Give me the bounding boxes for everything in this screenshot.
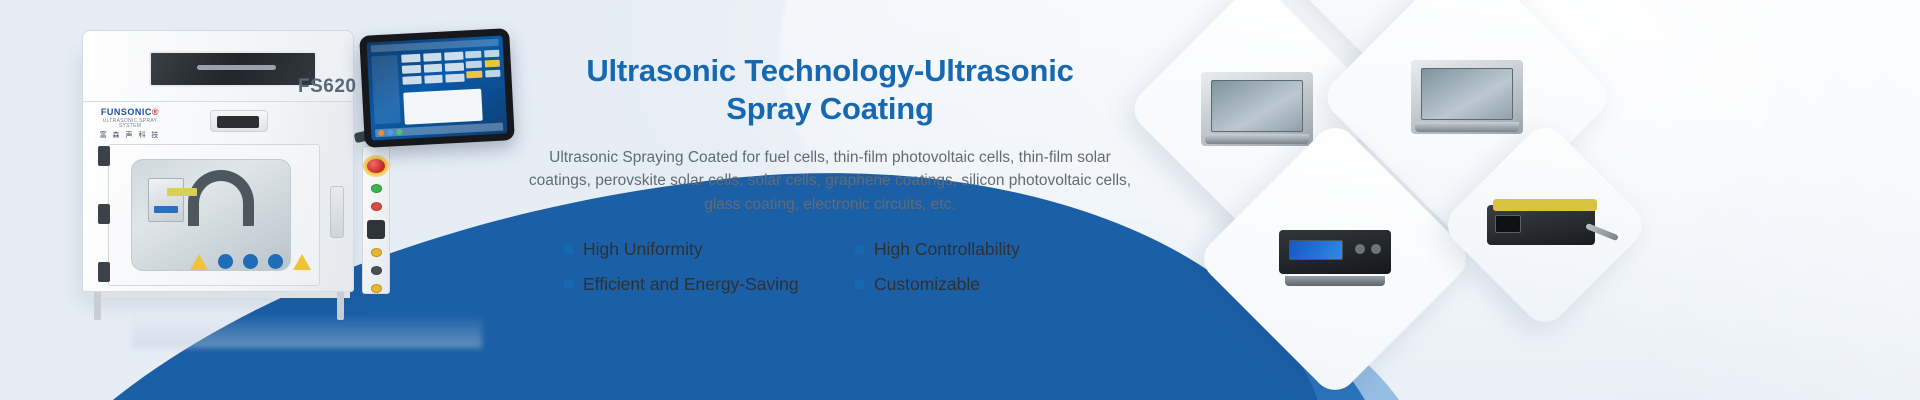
banner-headline: Ultrasonic Technology-Ultrasonic Spray C… — [520, 52, 1140, 129]
hmi-touchscreen[interactable] — [359, 28, 515, 148]
hmi-button-grid — [401, 52, 464, 85]
info-dot-icon-1 — [218, 254, 233, 269]
control-unit-image — [1279, 230, 1391, 288]
hmi-screen-content — [367, 36, 508, 141]
feature-item-high-uniformity: High Uniformity — [564, 239, 849, 260]
feature-label: High Controllability — [874, 239, 1020, 260]
hmi-taskbar — [375, 123, 503, 138]
door-hinge-bottom — [98, 262, 110, 282]
machine-brand-logo: FUNSONIC® ULTRASONIC SPRAY SYSTEM 富 森 声 … — [94, 108, 166, 139]
feature-item-customizable: Customizable — [855, 274, 1140, 295]
bullet-square-icon — [564, 245, 573, 254]
bullet-square-icon — [564, 280, 573, 289]
hmi-status-tiles — [465, 50, 500, 79]
feature-item-high-controllability: High Controllability — [855, 239, 1140, 260]
info-dot-icon-2 — [243, 254, 258, 269]
status-lamp-off — [371, 266, 382, 275]
banner-content: Ultrasonic Technology-Ultrasonic Spray C… — [520, 52, 1140, 295]
machine-leg-left — [94, 292, 101, 320]
feature-item-efficient-energy-saving: Efficient and Energy-Saving — [564, 274, 849, 295]
promo-banner: FUNSONIC® ULTRASONIC SPRAY SYSTEM 富 森 声 … — [0, 0, 1920, 400]
warning-triangle-icon-2 — [293, 254, 311, 270]
warning-label-row — [190, 254, 311, 270]
brand-registered-mark: ® — [152, 107, 159, 117]
warning-triangle-icon — [190, 254, 208, 270]
brand-name: FUNSONIC — [101, 107, 152, 117]
machine-top-window — [149, 51, 317, 87]
control-switch[interactable] — [367, 220, 385, 240]
headline-line-1: Ultrasonic Technology-Ultrasonic — [586, 53, 1073, 88]
hmi-main-panel — [403, 89, 483, 125]
feature-label: High Uniformity — [583, 239, 703, 260]
brand-chinese-name: 富 森 声 科 技 — [94, 132, 166, 139]
status-lamp-yellow-2 — [371, 284, 382, 293]
emergency-stop-button[interactable] — [365, 157, 387, 175]
status-lamp-red — [371, 202, 382, 211]
touch-panel-image — [1201, 72, 1313, 146]
machine-control-column — [362, 146, 390, 294]
spray-nozzle-arm — [188, 170, 254, 226]
ultrasonic-generator-image — [1487, 199, 1603, 251]
door-hinge-top — [98, 146, 110, 166]
banner-description: Ultrasonic Spraying Coated for fuel cell… — [520, 146, 1140, 217]
spray-nozzle-head — [148, 178, 184, 222]
hmi-side-panel — [371, 55, 401, 124]
feature-label: Efficient and Energy-Saving — [583, 274, 799, 295]
machine-base-bar — [88, 292, 350, 298]
coated-glass-plate-image — [1411, 60, 1523, 134]
machine-floor-reflection — [132, 314, 482, 348]
info-dot-icon-3 — [268, 254, 283, 269]
status-lamp-green — [371, 184, 382, 193]
status-lamp-yellow — [371, 248, 382, 257]
machine-model-label: FS620 — [298, 76, 356, 98]
machine-photo: FUNSONIC® ULTRASONIC SPRAY SYSTEM 富 森 声 … — [62, 18, 492, 318]
feature-label: Customizable — [874, 274, 980, 295]
machine-door-handle — [210, 110, 268, 132]
product-tile-collage — [1140, 0, 1920, 400]
machine-side-slot — [330, 186, 344, 238]
feature-list: High Uniformity High Controllability Eff… — [520, 239, 1140, 295]
bullet-square-icon — [855, 280, 864, 289]
bullet-square-icon — [855, 245, 864, 254]
headline-line-2: Spray Coating — [726, 91, 934, 126]
substrate-strip — [167, 188, 197, 196]
brand-subtitle: ULTRASONIC SPRAY SYSTEM — [94, 119, 166, 129]
door-hinge-middle — [98, 204, 110, 224]
